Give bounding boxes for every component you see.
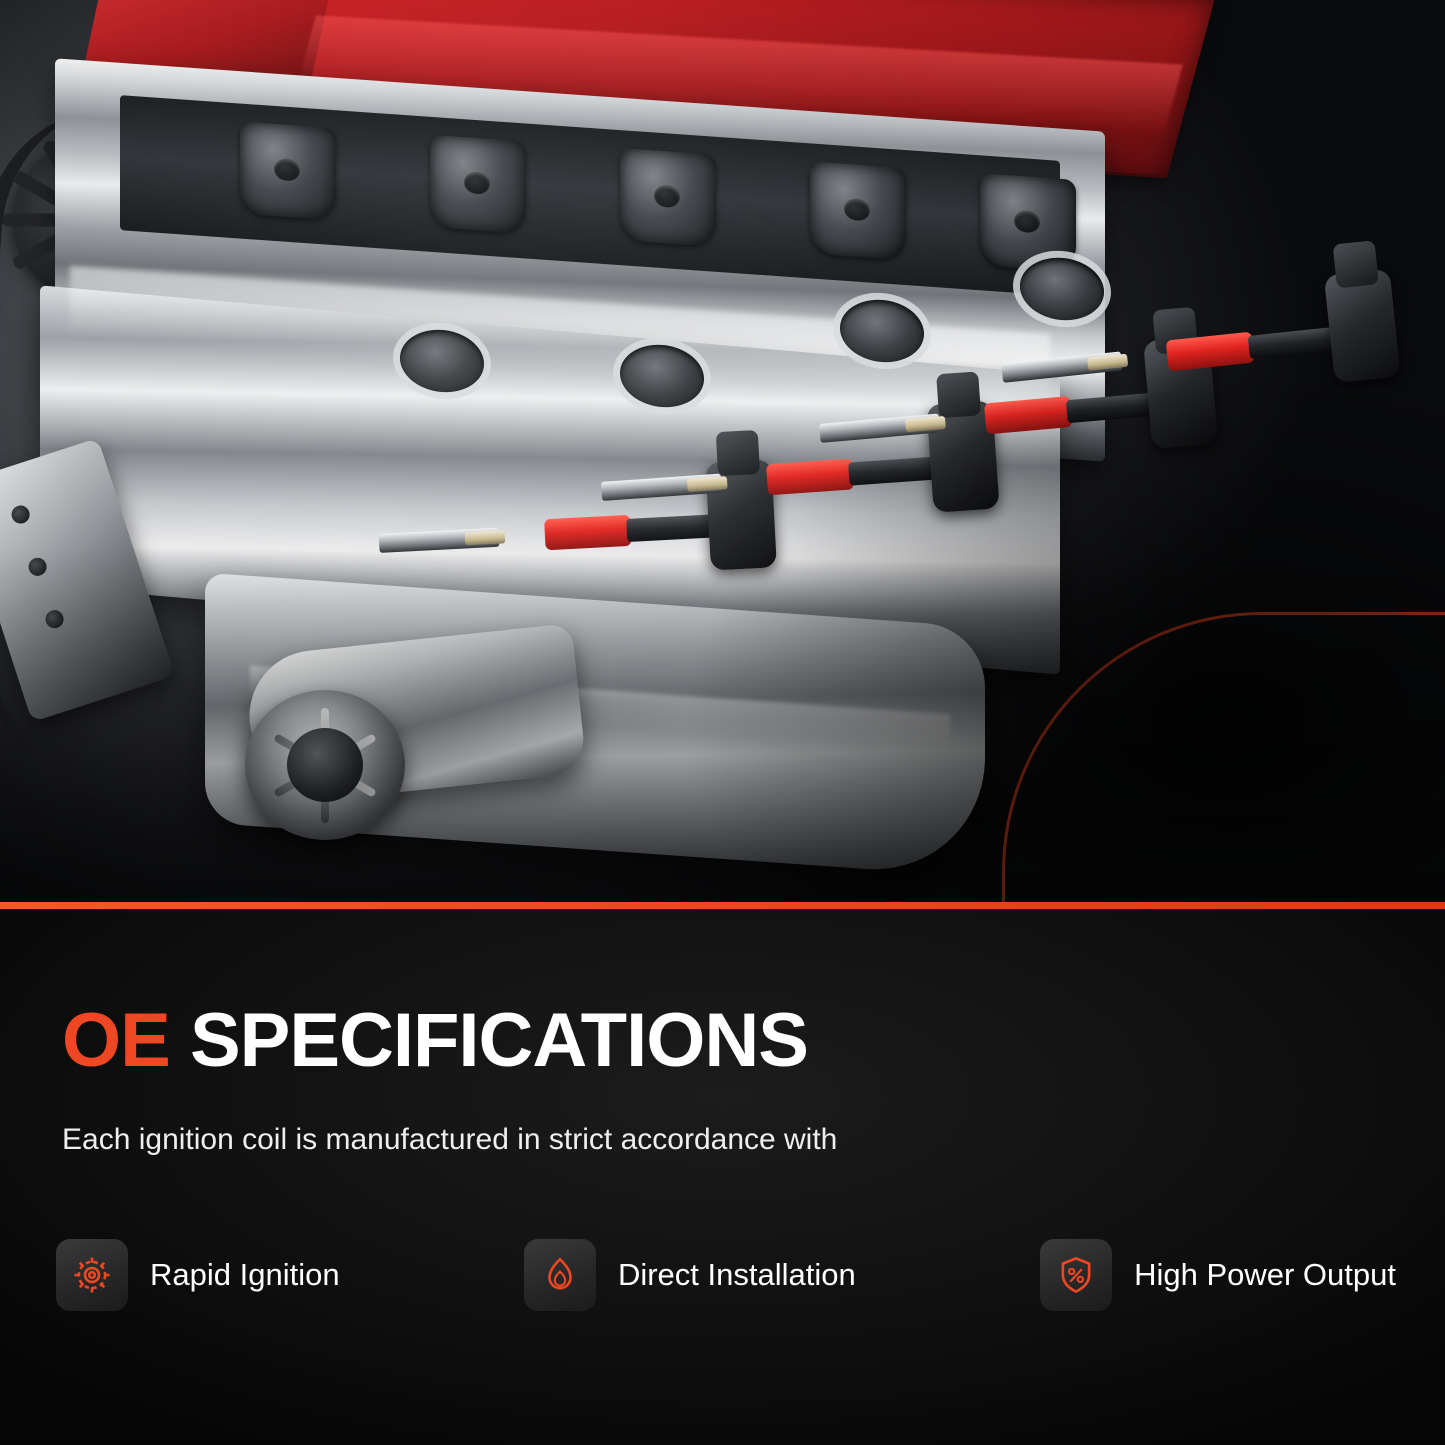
feature-label: High Power Output <box>1134 1257 1396 1293</box>
orange-divider <box>0 902 1445 909</box>
shield-percent-icon <box>1040 1239 1112 1311</box>
headline-accent: OE <box>62 998 170 1083</box>
feature-item-direct-installation: Direct Installation <box>524 1239 856 1311</box>
feature-panel: OE SPECIFICATIONS Each ignition coil is … <box>0 909 1445 1445</box>
feature-item-high-power-output: High Power Output <box>1040 1239 1396 1311</box>
product-photo <box>0 0 1445 905</box>
headline-rest: SPECIFICATIONS <box>190 998 808 1083</box>
feature-list: Rapid Ignition Direct Installation <box>56 1239 1396 1311</box>
flame-install-icon <box>524 1239 596 1311</box>
feature-label: Direct Installation <box>618 1257 856 1293</box>
feature-label: Rapid Ignition <box>150 1257 340 1293</box>
headline: OE SPECIFICATIONS <box>62 997 808 1084</box>
gear-ignition-icon <box>56 1239 128 1311</box>
headline-rest-spacer <box>170 998 190 1083</box>
product-infographic: OE SPECIFICATIONS Each ignition coil is … <box>0 0 1445 1445</box>
photo-vignette <box>0 0 1445 905</box>
subline: Each ignition coil is manufactured in st… <box>62 1123 837 1157</box>
feature-item-rapid-ignition: Rapid Ignition <box>56 1239 340 1311</box>
